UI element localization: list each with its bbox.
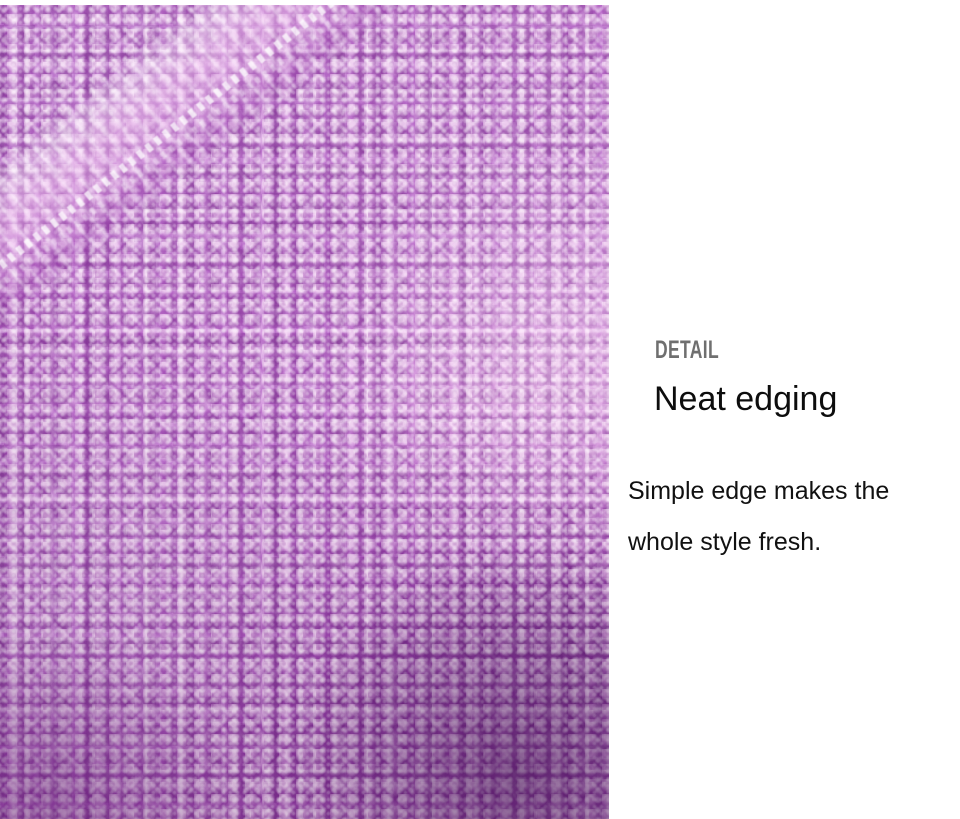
eyebrow-label: DETAIL (655, 338, 719, 363)
body-copy-line: whole style fresh. (628, 517, 960, 568)
body-copy: Simple edge makes the whole style fresh. (628, 466, 960, 568)
copy-panel: DETAIL Neat edging Simple edge makes the… (609, 0, 960, 819)
body-copy-line: Simple edge makes the (628, 466, 960, 517)
product-detail-banner: DETAIL Neat edging Simple edge makes the… (0, 0, 960, 819)
headline: Neat edging (654, 378, 837, 420)
product-photo (0, 5, 609, 819)
